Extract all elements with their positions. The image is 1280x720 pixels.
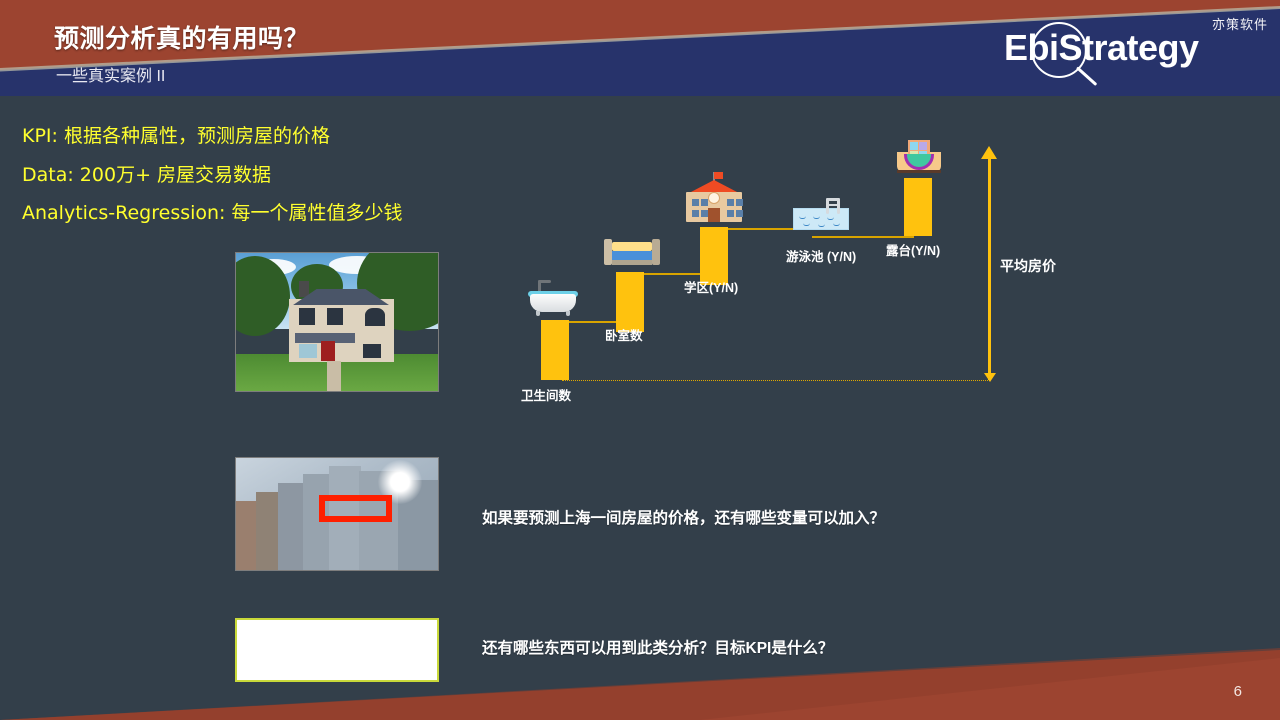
chart-label-bathrooms: 卫生间数 [521,385,571,404]
chart-label-school: 学区(Y/N) [684,277,738,296]
chart-baseline [562,380,990,381]
chart-axis-label: 平均房价 [1000,256,1056,276]
bathtub-icon [528,280,580,318]
page-number: 6 [1234,683,1242,700]
chart-axis-arrow-down-icon [984,373,996,382]
chart-bar-balcony [904,178,932,236]
bed-icon [604,237,660,267]
chart-bar-bathrooms [541,320,569,380]
balcony-icon [895,140,943,176]
school-icon [682,172,746,224]
chart-axis-arrow-up-icon [981,146,997,159]
swimming-pool-icon [793,198,851,234]
staircase-chart: 卫生间数 卧室数 学区(Y/N) [0,0,1280,720]
chart-bar-bedrooms [616,272,644,332]
chart-connector [812,236,914,238]
slide-canvas: 预测分析真的有用吗？ 一些真实案例 II 亦策软件 EbiStrategy KP… [0,0,1280,720]
chart-label-balcony: 露台(Y/N) [886,240,940,259]
chart-label-bedrooms: 卧室数 [605,325,643,344]
chart-axis-arrow-shaft [988,152,991,380]
chart-label-pool: 游泳池 (Y/N) [786,246,856,265]
